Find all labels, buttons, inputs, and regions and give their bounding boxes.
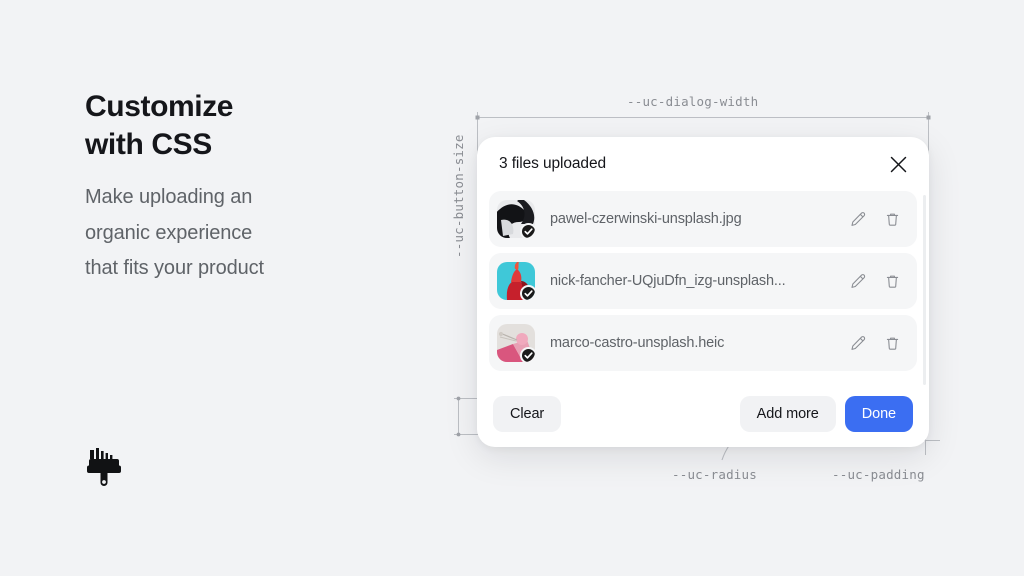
annotation-dialog-width: --uc-dialog-width xyxy=(627,94,758,109)
edit-file-button[interactable] xyxy=(841,202,875,236)
file-name: marco-castro-unsplash.heic xyxy=(550,335,841,351)
trash-icon xyxy=(884,335,901,352)
file-list: pawel-czerwinski-unsplash.jpg xyxy=(477,191,929,371)
add-more-button[interactable]: Add more xyxy=(740,396,836,432)
dialog-footer: Clear Add more Done xyxy=(477,381,929,447)
delete-file-button[interactable] xyxy=(875,264,909,298)
page-subtitle: Make uploading an organic experience tha… xyxy=(85,180,264,287)
clear-button[interactable]: Clear xyxy=(493,396,561,432)
list-item[interactable]: marco-castro-unsplash.heic xyxy=(489,315,917,371)
check-icon xyxy=(524,351,533,360)
paintbrush-icon xyxy=(85,446,125,495)
file-name: pawel-czerwinski-unsplash.jpg xyxy=(550,211,841,227)
pencil-icon xyxy=(850,211,867,228)
close-icon xyxy=(890,156,907,173)
upload-dialog: 3 files uploaded xyxy=(477,137,929,447)
screenshot-root: Customize with CSS Make uploading an org… xyxy=(0,0,1024,576)
close-button[interactable] xyxy=(881,147,915,181)
pencil-icon xyxy=(850,335,867,352)
annotation-button-size: --uc-button-size xyxy=(451,136,466,258)
edit-file-button[interactable] xyxy=(841,326,875,360)
check-icon xyxy=(524,289,533,298)
file-thumbnail xyxy=(497,200,535,238)
upload-success-badge xyxy=(520,223,535,238)
trash-icon xyxy=(884,211,901,228)
file-thumbnail xyxy=(497,262,535,300)
check-icon xyxy=(524,227,533,236)
annotation-radius: --uc-radius xyxy=(672,467,757,482)
upload-success-badge xyxy=(520,347,535,362)
trash-icon xyxy=(884,273,901,290)
file-name: nick-fancher-UQjuDfn_izg-unsplash... xyxy=(550,273,841,289)
done-button[interactable]: Done xyxy=(845,396,913,432)
delete-file-button[interactable] xyxy=(875,326,909,360)
list-item[interactable]: pawel-czerwinski-unsplash.jpg xyxy=(489,191,917,247)
dialog-header: 3 files uploaded xyxy=(477,137,929,191)
delete-file-button[interactable] xyxy=(875,202,909,236)
edit-file-button[interactable] xyxy=(841,264,875,298)
list-scrollbar[interactable] xyxy=(923,195,926,385)
dialog-title: 3 files uploaded xyxy=(499,155,606,173)
upload-success-badge xyxy=(520,285,535,300)
page-title: Customize with CSS xyxy=(85,88,233,164)
file-thumbnail xyxy=(497,324,535,362)
list-item[interactable]: nick-fancher-UQjuDfn_izg-unsplash... xyxy=(489,253,917,309)
pencil-icon xyxy=(850,273,867,290)
annotation-padding: --uc-padding xyxy=(832,467,925,482)
